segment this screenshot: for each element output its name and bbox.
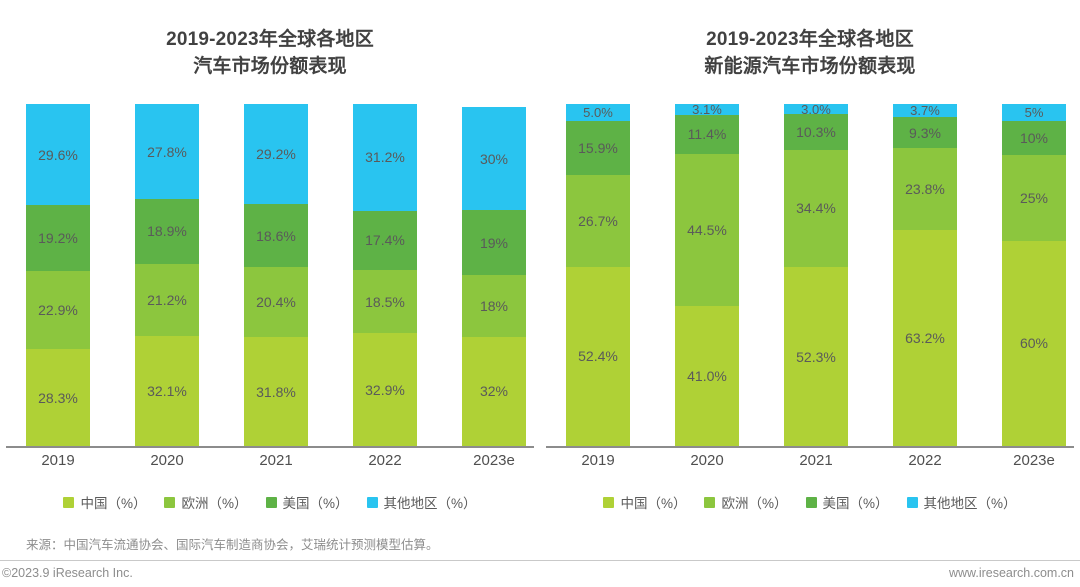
bar-segment: 25%	[1002, 155, 1066, 241]
legend-label: 美国（%）	[283, 492, 349, 512]
x-axis-tick-label: 2022	[893, 452, 957, 469]
bar-segment: 5.0%	[566, 104, 630, 121]
bar-segment: 9.3%	[893, 117, 957, 149]
x-axis-line-right	[546, 446, 1074, 448]
bar-column: 29.2%18.6%20.4%31.8%	[244, 104, 308, 446]
bar-segment-value: 32.1%	[147, 384, 187, 398]
bar-segment: 32.1%	[135, 336, 199, 446]
bar-segment-value: 30%	[480, 152, 508, 166]
bar-segment-value: 3.7%	[910, 104, 940, 117]
legend-swatch-icon	[907, 497, 918, 508]
legend-label: 欧洲（%）	[721, 492, 787, 512]
bar-column: 3.1%11.4%44.5%41.0%	[675, 104, 739, 446]
x-axis-labels-right: 20192020202120222023e	[566, 452, 1066, 469]
legend-label: 欧洲（%）	[181, 492, 247, 512]
page-title-right: 2019-2023年全球各地区 新能源汽车市场份额表现	[540, 26, 1080, 80]
bar-segment-value: 21.2%	[147, 293, 187, 307]
bar-segment: 18.6%	[244, 204, 308, 268]
x-axis-tick-label: 2019	[26, 452, 90, 469]
bar-segment: 11.4%	[675, 115, 739, 154]
bar-segment-value: 22.9%	[38, 303, 78, 317]
page-title-left: 2019-2023年全球各地区 汽车市场份额表现	[0, 26, 540, 80]
nev-market-share-panel: 2019-2023年全球各地区 新能源汽车市场份额表现 5.0%15.9%26.…	[540, 0, 1080, 540]
bar-segment-value: 19.2%	[38, 231, 78, 245]
bar-segment-value: 41.0%	[687, 369, 727, 383]
bar-segment: 19.2%	[26, 205, 90, 271]
x-axis-tick-label: 2022	[353, 452, 417, 469]
legend-item-europe[interactable]: 欧洲（%）	[704, 492, 787, 512]
bar-segment: 30%	[462, 107, 526, 210]
bar-segment: 18.5%	[353, 270, 417, 333]
bar-column: 5%10%25%60%	[1002, 104, 1066, 446]
bar-segment-value: 31.2%	[365, 150, 405, 164]
bar-segment-value: 18.5%	[365, 295, 405, 309]
copyright-text: ©2023.9 iResearch Inc.	[2, 566, 133, 580]
bar-column: 31.2%17.4%18.5%32.9%	[353, 104, 417, 446]
x-axis-tick-label: 2020	[135, 452, 199, 469]
bar-segment: 31.2%	[353, 104, 417, 211]
bar-segment: 27.8%	[135, 104, 199, 199]
bar-column: 3.0%10.3%34.4%52.3%	[784, 104, 848, 446]
x-axis-tick-label: 2020	[675, 452, 739, 469]
bar-segment-value: 44.5%	[687, 223, 727, 237]
bar-segment: 19%	[462, 210, 526, 275]
legend-item-other[interactable]: 其他地区（%）	[367, 492, 477, 512]
legend-swatch-icon	[63, 497, 74, 508]
bar-segment: 18.9%	[135, 199, 199, 264]
bar-segment: 26.7%	[566, 175, 630, 266]
x-axis-tick-label: 2021	[784, 452, 848, 469]
bar-segment: 18%	[462, 275, 526, 337]
bar-column: 3.7%9.3%23.8%63.2%	[893, 104, 957, 446]
bar-segment: 3.1%	[675, 104, 739, 115]
bar-segment-value: 63.2%	[905, 331, 945, 345]
x-axis-tick-label: 2023e	[462, 452, 526, 469]
bar-segment: 32.9%	[353, 333, 417, 446]
bar-segment: 32%	[462, 337, 526, 446]
bar-segment-value: 52.4%	[578, 349, 618, 363]
bar-segment-value: 60%	[1020, 336, 1048, 350]
bar-segment-value: 10%	[1020, 131, 1048, 145]
legend-label: 美国（%）	[823, 492, 889, 512]
bar-segment: 10.3%	[784, 114, 848, 149]
legend-right: 中国（%）欧洲（%）美国（%）其他地区（%）	[540, 492, 1080, 512]
bar-segment-value: 9.3%	[909, 126, 941, 140]
bar-column: 5.0%15.9%26.7%52.4%	[566, 104, 630, 446]
auto-market-share-panel: 2019-2023年全球各地区 汽车市场份额表现 29.6%19.2%22.9%…	[0, 0, 540, 540]
legend-swatch-icon	[266, 497, 277, 508]
bar-segment-value: 17.4%	[365, 233, 405, 247]
bar-segment: 29.6%	[26, 104, 90, 205]
bar-segment: 28.3%	[26, 349, 90, 446]
bar-segment-value: 32%	[480, 384, 508, 398]
bar-column: 27.8%18.9%21.2%32.1%	[135, 104, 199, 446]
bar-segment: 5%	[1002, 104, 1066, 121]
bar-segment-value: 18.9%	[147, 224, 187, 238]
bar-segment-value: 19%	[480, 236, 508, 250]
bar-column: 29.6%19.2%22.9%28.3%	[26, 104, 90, 446]
bar-segment: 10%	[1002, 121, 1066, 155]
bar-segment-value: 11.4%	[688, 127, 727, 141]
plot-area-right: 5.0%15.9%26.7%52.4%3.1%11.4%44.5%41.0%3.…	[566, 104, 1066, 446]
bar-segment: 15.9%	[566, 121, 630, 175]
x-axis-labels-left: 20192020202120222023e	[26, 452, 526, 469]
bar-segment: 23.8%	[893, 148, 957, 229]
bar-column: 30%19%18%32%	[462, 104, 526, 446]
bar-segment: 44.5%	[675, 154, 739, 306]
bar-segment-value: 5.0%	[583, 106, 613, 119]
x-axis-tick-label: 2019	[566, 452, 630, 469]
bar-segment-value: 18%	[480, 299, 508, 313]
bar-segment: 3.7%	[893, 104, 957, 117]
source-note: 来源：中国汽车流通协会、国际汽车制造商协会，艾瑞统计预测模型估算。	[26, 534, 439, 553]
bar-segment-value: 25%	[1020, 191, 1048, 205]
legend-label: 其他地区（%）	[384, 492, 477, 512]
stacked-bar-group-right: 5.0%15.9%26.7%52.4%3.1%11.4%44.5%41.0%3.…	[566, 104, 1066, 446]
legend-swatch-icon	[806, 497, 817, 508]
bar-segment: 52.4%	[566, 267, 630, 446]
bar-segment-value: 26.7%	[578, 214, 618, 228]
bar-segment: 29.2%	[244, 104, 308, 204]
bar-segment-value: 29.6%	[38, 148, 78, 162]
bar-segment: 3.0%	[784, 104, 848, 114]
bar-segment-value: 27.8%	[147, 145, 187, 159]
bar-segment: 34.4%	[784, 150, 848, 268]
bar-segment-value: 29.2%	[256, 147, 296, 161]
bar-segment-value: 10.3%	[796, 125, 836, 139]
x-axis-tick-label: 2023e	[1002, 452, 1066, 469]
legend-swatch-icon	[367, 497, 378, 508]
bar-segment-value: 20.4%	[256, 295, 296, 309]
legend-item-usa[interactable]: 美国（%）	[266, 492, 349, 512]
bar-segment: 60%	[1002, 241, 1066, 446]
legend-item-europe[interactable]: 欧洲（%）	[164, 492, 247, 512]
bar-segment: 63.2%	[893, 230, 957, 446]
x-axis-line-left	[6, 446, 534, 448]
bar-segment-value: 18.6%	[256, 229, 296, 243]
bar-segment: 41.0%	[675, 306, 739, 446]
bar-segment-value: 15.9%	[578, 141, 618, 155]
bar-segment-value: 23.8%	[905, 182, 945, 196]
bar-segment: 17.4%	[353, 211, 417, 271]
bar-segment-value: 34.4%	[796, 201, 836, 215]
legend-swatch-icon	[704, 497, 715, 508]
bar-segment: 31.8%	[244, 337, 308, 446]
legend-label: 其他地区（%）	[924, 492, 1017, 512]
website-text: www.iresearch.com.cn	[949, 566, 1074, 580]
legend-left: 中国（%）欧洲（%）美国（%）其他地区（%）	[0, 492, 540, 512]
footer-divider	[0, 560, 1080, 561]
legend-item-china[interactable]: 中国（%）	[603, 492, 686, 512]
bar-segment-value: 32.9%	[365, 383, 405, 397]
chart-page: 2019-2023年全球各地区 汽车市场份额表现 29.6%19.2%22.9%…	[0, 0, 1080, 587]
stacked-bar-group-left: 29.6%19.2%22.9%28.3%27.8%18.9%21.2%32.1%…	[26, 104, 526, 446]
bar-segment-value: 28.3%	[38, 391, 78, 405]
bar-segment: 52.3%	[784, 267, 848, 446]
bar-segment-value: 5%	[1025, 106, 1044, 119]
legend-swatch-icon	[164, 497, 175, 508]
legend-swatch-icon	[603, 497, 614, 508]
bar-segment: 21.2%	[135, 264, 199, 337]
bar-segment-value: 31.8%	[256, 385, 296, 399]
legend-item-other[interactable]: 其他地区（%）	[907, 492, 1017, 512]
x-axis-tick-label: 2021	[244, 452, 308, 469]
legend-label: 中国（%）	[80, 492, 146, 512]
bar-segment-value: 52.3%	[796, 350, 836, 364]
bar-segment: 22.9%	[26, 271, 90, 349]
legend-label: 中国（%）	[620, 492, 686, 512]
plot-area-left: 29.6%19.2%22.9%28.3%27.8%18.9%21.2%32.1%…	[26, 104, 526, 446]
bar-segment: 20.4%	[244, 267, 308, 337]
legend-item-china[interactable]: 中国（%）	[63, 492, 146, 512]
legend-item-usa[interactable]: 美国（%）	[806, 492, 889, 512]
